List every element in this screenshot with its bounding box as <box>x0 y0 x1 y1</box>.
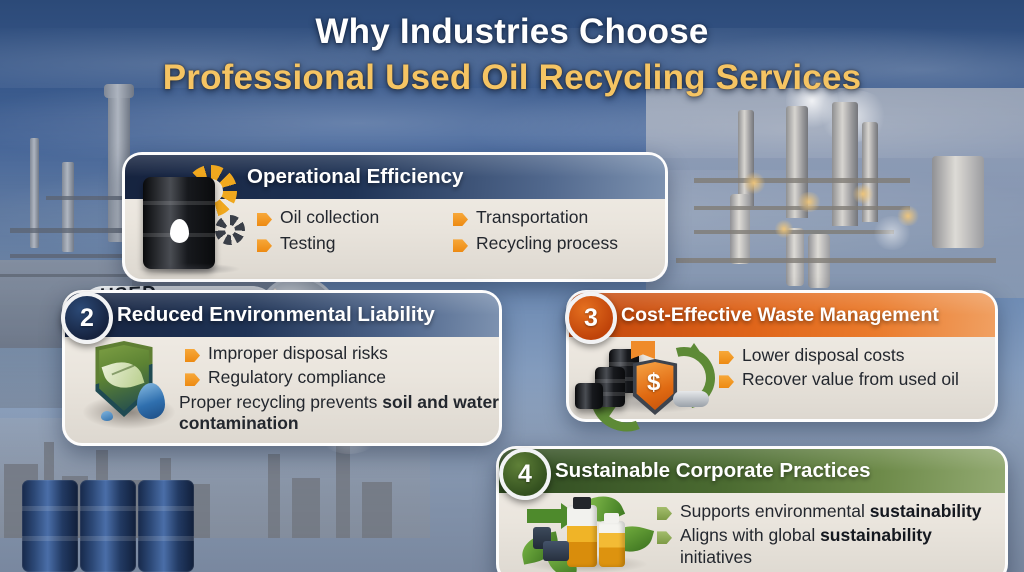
card-reduced-environmental-liability[interactable]: Reduced Environmental Liability 2 Improp… <box>62 290 502 446</box>
oil-drum <box>80 480 136 572</box>
poster-title-line-2: Professional Used Oil Recycling Services <box>0 58 1024 98</box>
arrow-marker-icon <box>719 375 734 388</box>
card-4-header: Sustainable Corporate Practices <box>499 449 1005 493</box>
shield-leaf-waterdrop-icon <box>71 339 183 439</box>
title-block: Why Industries Choose Professional Used … <box>0 12 1024 98</box>
background-oil-refinery-right <box>646 88 1024 298</box>
bullet-item: Supports environmental sustainability <box>657 501 1005 522</box>
card-3-header: Cost-Effective Waste Management <box>569 293 995 337</box>
bullet-text: Aligns with global sustainability initia… <box>680 525 1005 568</box>
bullet-item: Regulatory compliance <box>185 367 499 388</box>
infographic-poster: USED OIL Why Industries Choose Professio… <box>0 0 1024 572</box>
card-2-note: Proper recycling prevents soil and water… <box>179 392 499 434</box>
cloud-band <box>0 88 1024 158</box>
bullet-text: Transportation <box>476 207 588 228</box>
card-2-title: Reduced Environmental Liability <box>117 303 435 327</box>
bullet-prefix: Aligns with global <box>680 525 820 545</box>
card-cost-effective-waste-management[interactable]: Cost-Effective Waste Management 3 <box>566 290 998 422</box>
bullet-bold: sustainability <box>870 501 982 521</box>
card-sustainable-corporate-practices[interactable]: Sustainable Corporate Practices 4 <box>496 446 1008 572</box>
bullet-text: Lower disposal costs <box>742 345 904 366</box>
bullet-item: Oil collection <box>257 207 445 228</box>
poster-title-line-1: Why Industries Choose <box>0 12 1024 52</box>
bullet-item: Testing <box>257 233 445 254</box>
card-4-number-badge: 4 <box>499 448 551 500</box>
arrow-marker-icon <box>453 239 468 252</box>
bullet-text: Testing <box>280 233 335 254</box>
oil-drum <box>138 480 194 572</box>
bullet-item: Transportation <box>453 207 618 228</box>
bullet-item: Recycling process <box>453 233 618 254</box>
arrow-marker-icon <box>257 239 272 252</box>
bullet-text: Improper disposal risks <box>208 343 388 364</box>
card-operational-efficiency[interactable]: Operational Efficiency Oil collecti <box>122 152 668 282</box>
oil-bottles-leaves-icon <box>519 495 655 572</box>
arrow-marker-icon <box>453 213 468 226</box>
oil-barrel-gear-icon <box>129 159 249 277</box>
bullet-suffix: initiatives <box>680 547 752 567</box>
arrow-marker-icon <box>185 373 200 386</box>
bullet-bold: sustainability <box>820 525 932 545</box>
arrow-marker-icon <box>257 213 272 226</box>
bullet-text: Recover value from used oil <box>742 369 959 390</box>
card-3-number-badge: 3 <box>565 292 617 344</box>
bullet-item: Improper disposal risks <box>185 343 499 364</box>
bullet-item: Aligns with global sustainability initia… <box>657 525 1005 568</box>
card-4-title: Sustainable Corporate Practices <box>555 459 871 483</box>
bullet-item: Recover value from used oil <box>719 369 959 390</box>
bullet-text: Recycling process <box>476 233 618 254</box>
card-3-title: Cost-Effective Waste Management <box>621 304 939 327</box>
bullet-prefix: Supports environmental <box>680 501 870 521</box>
arrow-marker-icon <box>657 507 672 520</box>
card-2-number-badge: 2 <box>61 292 113 344</box>
bullet-text: Supports environmental sustainability <box>680 501 982 522</box>
card-2-header: Reduced Environmental Liability <box>65 293 499 337</box>
oil-drum <box>22 480 78 572</box>
arrow-marker-icon <box>185 349 200 362</box>
bullet-text: Oil collection <box>280 207 379 228</box>
card-1-title: Operational Efficiency <box>247 165 463 189</box>
arrow-marker-icon <box>657 531 672 544</box>
bullet-text: Regulatory compliance <box>208 367 386 388</box>
card-2-note-prefix: Proper recycling prevents <box>179 392 382 412</box>
barrels-dollar-shield-icon: $ <box>575 339 715 417</box>
bullet-item: Lower disposal costs <box>719 345 959 366</box>
arrow-marker-icon <box>719 351 734 364</box>
